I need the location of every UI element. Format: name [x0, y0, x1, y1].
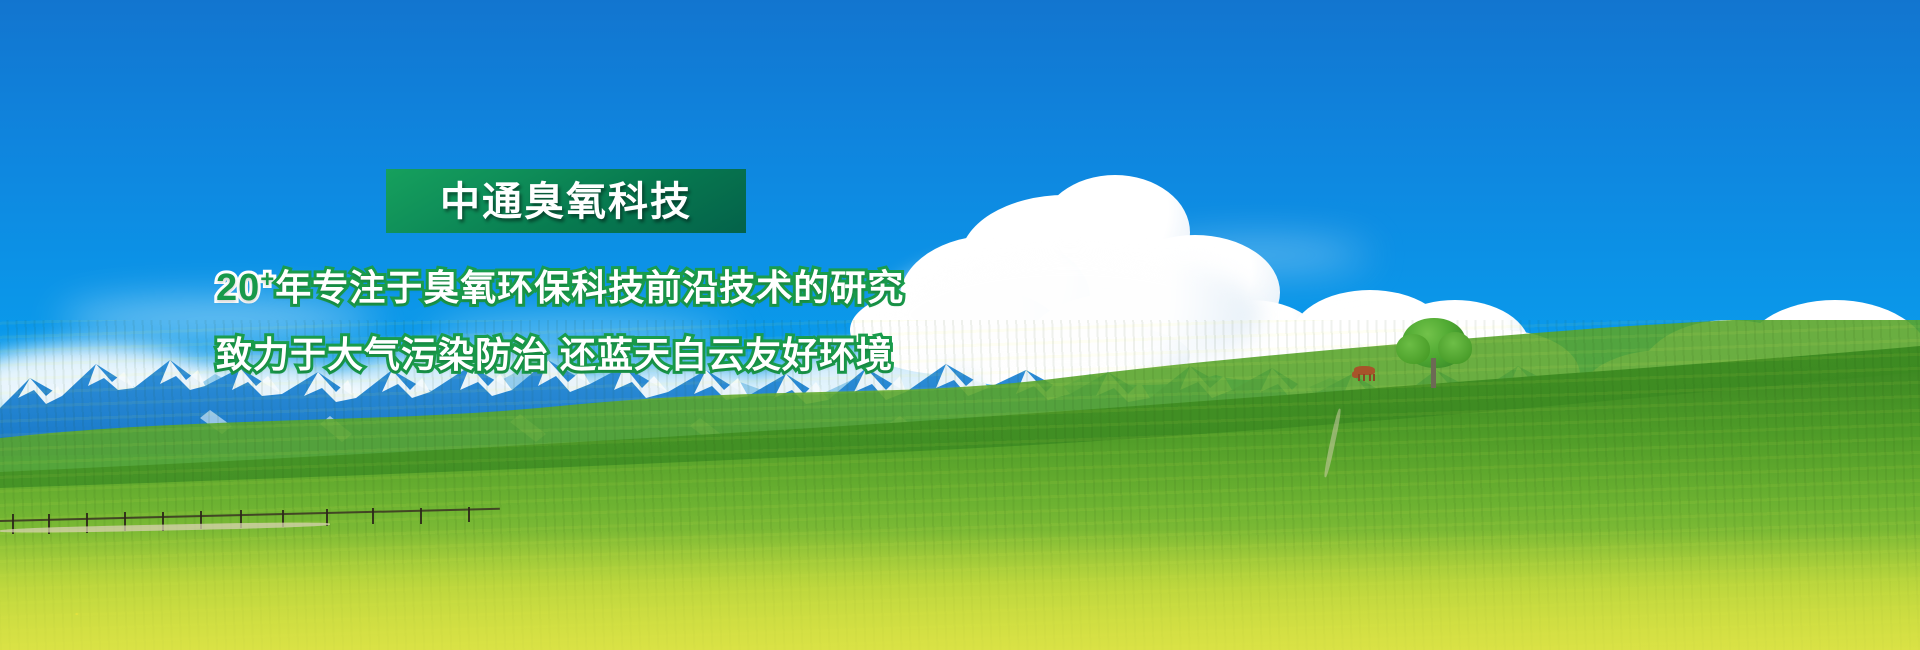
lone-tree: [1396, 318, 1472, 392]
brand-title-plate: 中通臭氧科技: [386, 169, 746, 233]
tree-canopy-lobe: [1438, 332, 1472, 364]
brand-title-text: 中通臭氧科技: [440, 182, 692, 222]
cow-leg: [1373, 374, 1375, 381]
grazing-cow: [1352, 366, 1378, 382]
tagline-years-number: 20: [216, 267, 260, 309]
fence-post: [420, 508, 422, 524]
tagline-line-2: 致力于大气污染防治 还蓝天白云友好环境: [216, 326, 893, 378]
fence-post: [468, 507, 470, 522]
hero-banner: 中通臭氧科技 20+年专注于臭氧环保科技前沿技术的研究 致力于大气污染防治 还蓝…: [0, 0, 1920, 650]
tree-trunk: [1431, 358, 1436, 388]
wildflower-field: [0, 530, 1920, 650]
cow-leg: [1369, 374, 1371, 381]
fence-post: [372, 508, 374, 524]
tree-canopy-lobe: [1396, 334, 1430, 364]
cow-leg: [1358, 374, 1360, 381]
tagline-line-1-rest: 年专注于臭氧环保科技前沿技术的研究: [275, 267, 904, 308]
tagline-years-plus: +: [260, 266, 275, 293]
cow-leg: [1363, 374, 1365, 381]
tagline-line-1: 20+年专注于臭氧环保科技前沿技术的研究: [216, 259, 904, 311]
